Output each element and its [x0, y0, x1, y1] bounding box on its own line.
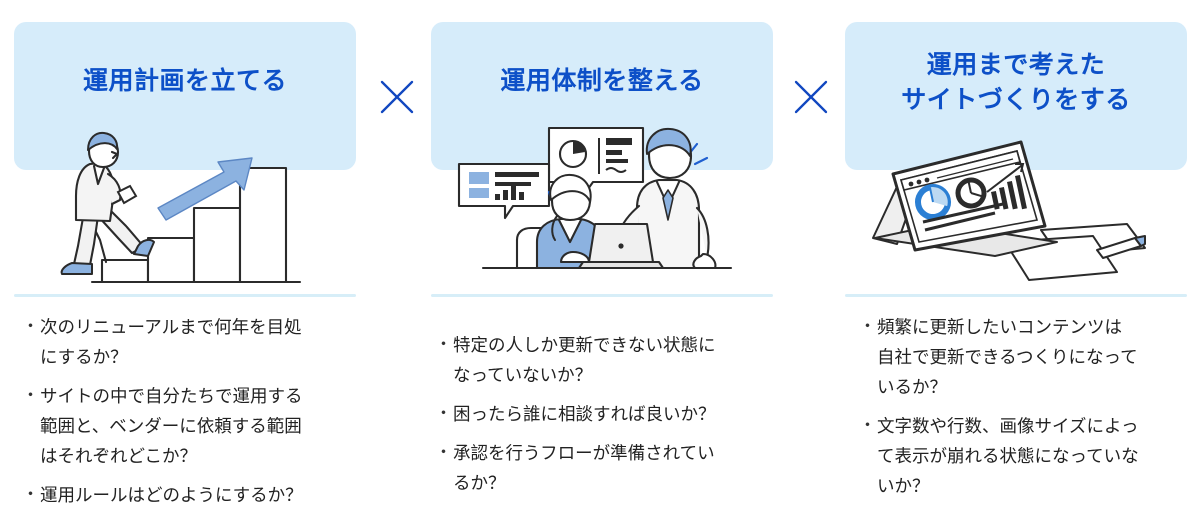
column-structure: 運用体制を整える: [431, 0, 773, 503]
bullet-marker: ・: [22, 312, 40, 342]
list-item: ・ 特定の人しか更新できない状態に なっていないか？: [435, 330, 773, 390]
list-item: ・ サイトの中で自分たちで運用する 範囲と、ベンダーに依頼する範囲 はそれぞれど…: [22, 381, 356, 471]
multiply-cross-icon-2: [791, 77, 831, 117]
list-item: ・ 運用ルールはどのようにするか？: [22, 480, 356, 510]
card-title-line: 運用体制を整える: [431, 64, 773, 99]
bullet-marker: ・: [435, 330, 453, 360]
bullet-text: サイトの中で自分たちで運用する 範囲と、ベンダーに依頼する範囲 はそれぞれどこか…: [40, 381, 356, 471]
bullet-text: 次のリニューアルまで何年を目処 にするか？: [40, 312, 356, 372]
bullet-text: 運用ルールはどのようにするか？: [40, 480, 356, 510]
card-title-line: 運用計画を立てる: [14, 64, 356, 99]
bullet-list-plan: ・ 次のリニューアルまで何年を目処 にするか？ ・ サイトの中で自分たちで運用す…: [14, 312, 356, 519]
list-item: ・ 承認を行うフローが準備されてい るか？: [435, 438, 773, 498]
bullet-text: 文字数や行数、画像サイズによっ て表示が崩れる状態になっていな いか？: [877, 411, 1187, 501]
bullet-marker: ・: [435, 438, 453, 468]
card-title-line: 運用まで考えた: [845, 48, 1187, 83]
multiply-cross-icon-1: [377, 77, 417, 117]
card-title-structure: 運用体制を整える: [431, 22, 773, 99]
bullet-text: 特定の人しか更新できない状態に なっていないか？: [453, 330, 773, 390]
bullet-text: 承認を行うフローが準備されてい るか？: [453, 438, 773, 498]
card-title-plan: 運用計画を立てる: [14, 22, 356, 99]
column-divider: [431, 294, 773, 297]
list-item: ・ 頻繁に更新したいコンテンツは 自社で更新できるつくりになって いるか？: [859, 312, 1187, 402]
card-title-build: 運用まで考えた サイトづくりをする: [845, 22, 1187, 117]
card-title-line: サイトづくりをする: [845, 83, 1187, 118]
list-item: ・ 次のリニューアルまで何年を目処 にするか？: [22, 312, 356, 372]
illustration-businessman-climbing-steps: [14, 120, 356, 290]
bullet-marker: ・: [22, 480, 40, 510]
list-item: ・ 困ったら誰に相談すれば良いか？: [435, 399, 773, 429]
bullet-marker: ・: [859, 312, 877, 342]
bullet-list-structure: ・ 特定の人しか更新できない状態に なっていないか？ ・ 困ったら誰に相談すれば…: [431, 330, 773, 507]
column-plan: 運用計画を立てる: [14, 0, 356, 503]
column-divider: [14, 294, 356, 297]
bullet-list-build: ・ 頻繁に更新したいコンテンツは 自社で更新できるつくりになって いるか？ ・ …: [845, 312, 1187, 510]
bullet-marker: ・: [435, 399, 453, 429]
bullet-marker: ・: [859, 411, 877, 441]
infographic-board: 運用計画を立てる: [0, 0, 1200, 503]
column-build: 運用まで考えた サイトづくりをする: [845, 0, 1187, 503]
bullet-text: 頻繁に更新したいコンテンツは 自社で更新できるつくりになって いるか？: [877, 312, 1187, 402]
bullet-text: 困ったら誰に相談すれば良いか？: [453, 399, 773, 429]
column-divider: [845, 294, 1187, 297]
bullet-marker: ・: [22, 381, 40, 411]
chart-speech-bubble-lower: [459, 164, 549, 218]
illustration-two-people-laptop: [431, 120, 773, 290]
list-item: ・ 文字数や行数、画像サイズによっ て表示が崩れる状態になっていな いか？: [859, 411, 1187, 501]
illustration-tablet-dashboard: [845, 120, 1187, 290]
